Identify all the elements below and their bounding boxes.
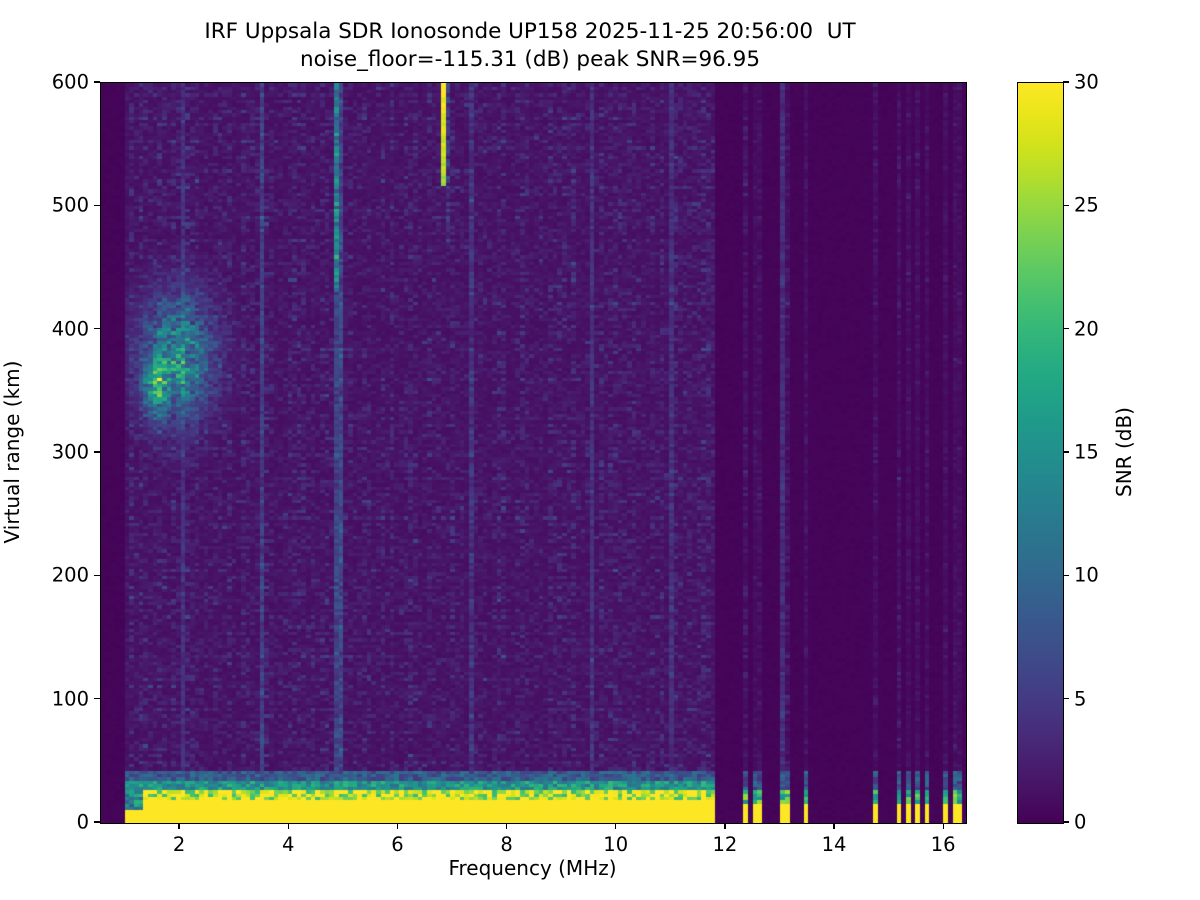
colorbar-tick-label: 25 (1074, 196, 1099, 216)
x-tick-label: 10 (603, 835, 628, 855)
colorbar-tick-label: 20 (1074, 319, 1099, 339)
x-tick-mark (288, 823, 289, 829)
x-tick-label: 16 (931, 835, 956, 855)
y-tick-label: 600 (52, 72, 89, 92)
y-axis-label: Virtual range (km) (0, 361, 24, 544)
y-tick-mark (94, 328, 100, 329)
y-tick-label: 400 (52, 319, 89, 339)
colorbar (1017, 82, 1064, 824)
colorbar-gradient (1018, 83, 1063, 823)
title-line-2: noise_floor=-115.31 (dB) peak SNR=96.95 (0, 46, 1060, 74)
colorbar-tick-label: 10 (1074, 566, 1099, 586)
colorbar-tick-label: 0 (1074, 812, 1086, 832)
x-tick-mark (397, 823, 398, 829)
y-tick-mark (94, 81, 100, 82)
y-tick-mark (94, 451, 100, 452)
x-tick-mark (506, 823, 507, 829)
x-tick-mark (724, 823, 725, 829)
colorbar-tick-mark (1063, 698, 1069, 699)
ionogram-plot-area (100, 82, 967, 824)
y-tick-mark (94, 698, 100, 699)
figure-title: IRF Uppsala SDR Ionosonde UP158 2025-11-… (0, 18, 1060, 74)
colorbar-tick-label: 15 (1074, 442, 1099, 462)
x-tick-label: 4 (282, 835, 294, 855)
y-tick-label: 200 (52, 566, 89, 586)
ionogram-heatmap (101, 83, 966, 823)
colorbar-label: SNR (dB) (1112, 407, 1136, 497)
x-tick-label: 8 (500, 835, 512, 855)
x-axis-label: Frequency (MHz) (100, 856, 965, 880)
y-tick-mark (94, 821, 100, 822)
colorbar-tick-mark (1063, 575, 1069, 576)
x-tick-mark (943, 823, 944, 829)
colorbar-tick-label: 30 (1074, 72, 1099, 92)
x-tick-label: 6 (391, 835, 403, 855)
y-tick-label: 500 (52, 196, 89, 216)
title-line-1: IRF Uppsala SDR Ionosonde UP158 2025-11-… (0, 18, 1060, 46)
x-tick-label: 14 (822, 835, 847, 855)
colorbar-tick-label: 5 (1074, 689, 1086, 709)
x-tick-mark (178, 823, 179, 829)
x-tick-label: 12 (712, 835, 737, 855)
y-tick-label: 0 (77, 812, 89, 832)
colorbar-tick-mark (1063, 451, 1069, 452)
y-tick-label: 100 (52, 689, 89, 709)
colorbar-tick-mark (1063, 81, 1069, 82)
x-tick-mark (615, 823, 616, 829)
y-tick-mark (94, 205, 100, 206)
y-tick-label: 300 (52, 442, 89, 462)
ionogram-figure: IRF Uppsala SDR Ionosonde UP158 2025-11-… (0, 0, 1200, 900)
x-tick-label: 2 (173, 835, 185, 855)
colorbar-tick-mark (1063, 821, 1069, 822)
x-tick-mark (833, 823, 834, 829)
colorbar-tick-mark (1063, 205, 1069, 206)
y-tick-mark (94, 575, 100, 576)
colorbar-tick-mark (1063, 328, 1069, 329)
